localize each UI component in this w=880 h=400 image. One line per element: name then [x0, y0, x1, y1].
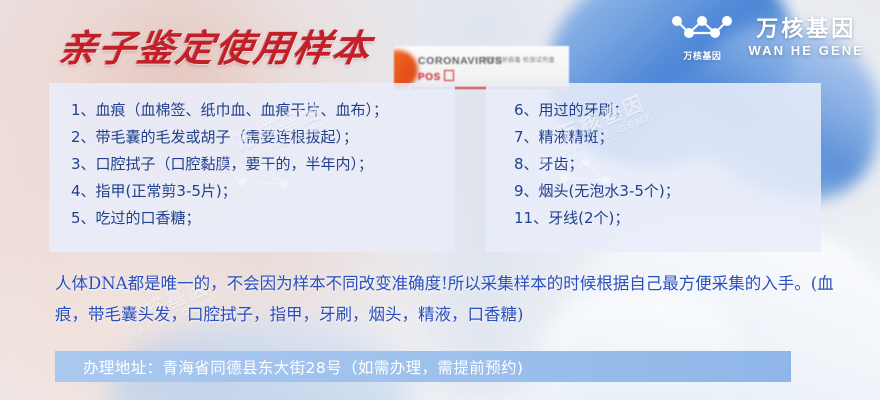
- kit-result-text: POS: [418, 70, 454, 83]
- brand-logo: 万核基因 万核基因 WAN HE GENE: [669, 13, 864, 62]
- list-item: 11、牙线(2个)；: [514, 205, 821, 232]
- sample-list-right: 6、用过的牙刷； 7、精液精斑； 8、牙齿； 9、烟头(无泡水3-5个)； 11…: [486, 83, 821, 232]
- list-item: 6、用过的牙刷；: [514, 97, 821, 124]
- list-item: 2、带毛囊的毛发或胡子（需要连根拔起）；: [71, 124, 455, 151]
- brand-mark: 万核基因: [669, 13, 735, 62]
- brand-mark-label: 万核基因: [683, 49, 721, 62]
- sample-list-left: 1、血痕（血棉签、纸巾血、血痕干片、血布）； 2、带毛囊的毛发或胡子（需要连根拔…: [49, 83, 455, 232]
- list-item: 1、血痕（血棉签、纸巾血、血痕干片、血布）；: [71, 97, 455, 124]
- address-banner: 办理地址：青海省同德县东大街28号（如需办理，需提前预约): [55, 351, 791, 382]
- kit-result-checkbox-icon: [444, 70, 454, 81]
- list-item: 3、口腔拭子（口腔黏膜，要干的，半年内）；: [71, 151, 455, 178]
- kit-code-text: 新型冠状病毒 检测试剂盒: [483, 55, 555, 64]
- list-item: 5、吃过的口香糖；: [71, 205, 455, 232]
- dna-molecule-icon: [669, 13, 735, 47]
- sample-list-panel-left: 1、血痕（血棉签、纸巾血、血痕干片、血布）； 2、带毛囊的毛发或胡子（需要连根拔…: [49, 83, 455, 252]
- list-item: 9、烟头(无泡水3-5个)；: [514, 178, 821, 205]
- sample-list-panel-right: 6、用过的牙刷； 7、精液精斑； 8、牙齿； 9、烟头(无泡水3-5个)； 11…: [486, 83, 821, 252]
- kit-result-label: POS: [418, 72, 441, 83]
- page-title: 亲子鉴定使用样本: [56, 18, 377, 72]
- poster-root: CORONAVIRUS POS 新型冠状病毒 检测试剂盒 亲子鉴定使用样本: [0, 0, 880, 400]
- brand-wordmark: 万核基因 WAN HE GENE: [748, 17, 864, 57]
- description-paragraph: 人体DNA都是唯一的，不会因为样本不同改变准确度!所以采集样本的时候根据自己最方…: [55, 268, 845, 330]
- address-text: 办理地址：青海省同德县东大街28号（如需办理，需提前预约): [55, 356, 523, 378]
- brand-name-en: WAN HE GENE: [748, 44, 864, 58]
- brand-name-cn: 万核基因: [756, 17, 856, 40]
- list-item: 7、精液精斑；: [514, 124, 821, 151]
- list-item: 8、牙齿；: [514, 151, 821, 178]
- list-item: 4、指甲(正常剪3-5片)；: [71, 178, 455, 205]
